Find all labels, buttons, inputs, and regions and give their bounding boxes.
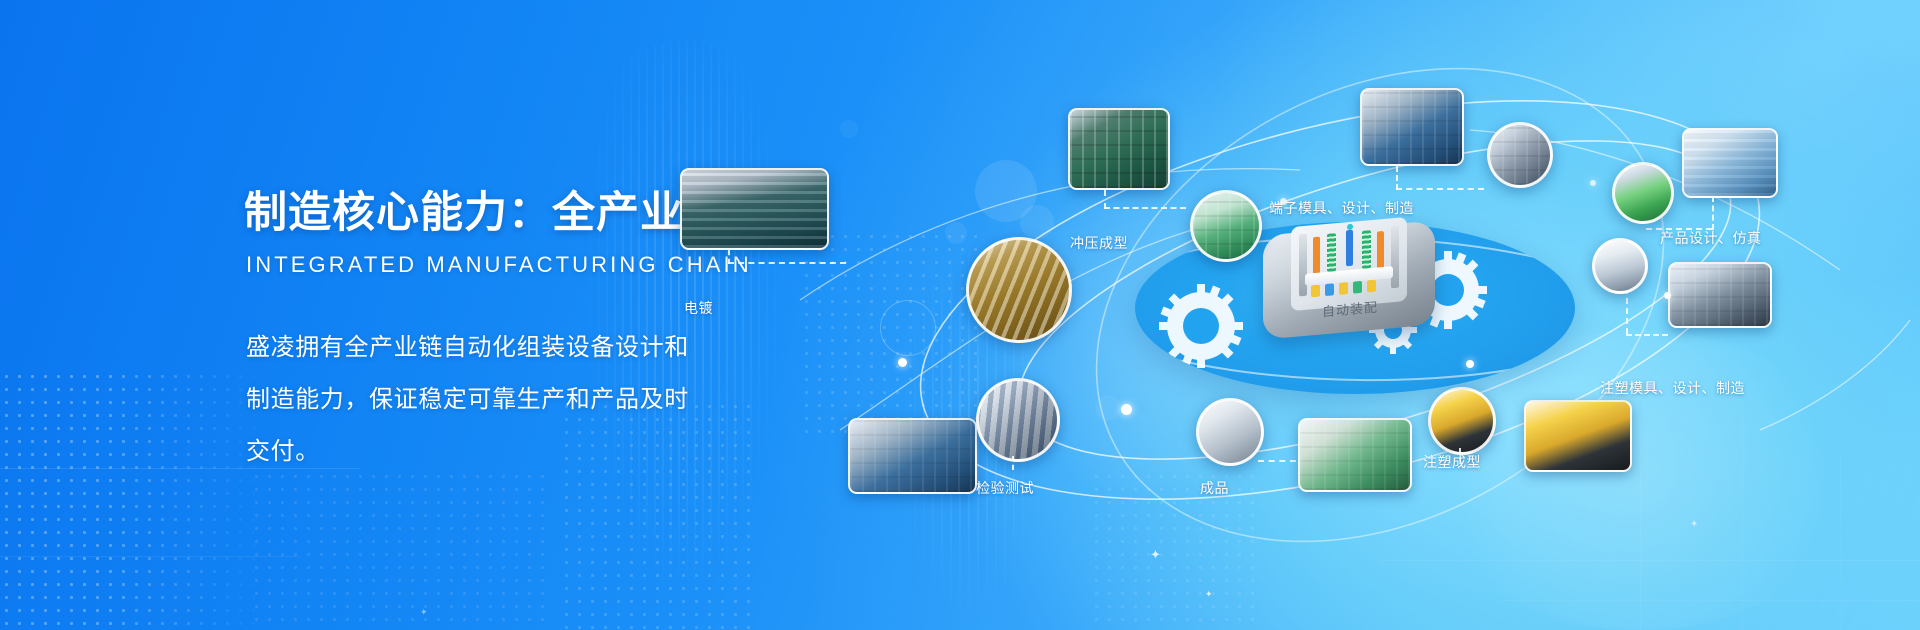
node-label-product-design: 产品设计、仿真 xyxy=(1660,228,1762,248)
process-chain-diagram: 自动装配 电镀 冲压成型 xyxy=(780,0,1920,630)
node-thumb-stamping[interactable] xyxy=(1068,108,1170,190)
grid-line-decor xyxy=(0,556,300,557)
node-thumb-terminal-mold[interactable] xyxy=(1360,88,1464,166)
node-circle-stamping[interactable] xyxy=(1190,190,1262,262)
connector-dash xyxy=(1396,166,1398,190)
node-thumb-inspection-testing[interactable] xyxy=(848,418,977,494)
connector-dash xyxy=(728,262,846,264)
automatic-assembly-machine: 自动装配 xyxy=(1255,200,1445,336)
orbit-dot xyxy=(1280,198,1287,205)
node-circle-finished-product[interactable] xyxy=(1196,398,1264,466)
connector-dash xyxy=(1396,188,1484,190)
connector-dash xyxy=(728,250,730,264)
manufacturing-chain-banner: ✦ ✦ ✦ ✦ 制造核心能力：全产业链 INTEGRATED MANUFACTU… xyxy=(0,0,1920,630)
orbit-dot xyxy=(1590,180,1596,186)
banner-copy: 制造核心能力：全产业链 INTEGRATED MANUFACTURING CHA… xyxy=(244,178,704,478)
connector-dash xyxy=(1626,334,1668,336)
page-title: 制造核心能力：全产业链 xyxy=(244,178,704,240)
node-thumb-injection-molding[interactable] xyxy=(1524,400,1632,472)
node-label-electroplating: 电镀 xyxy=(684,298,713,318)
orbit-dot xyxy=(1121,404,1132,415)
orbit-dot xyxy=(1466,360,1474,368)
connector-dash xyxy=(1012,456,1014,470)
node-circle-electroplating[interactable] xyxy=(966,237,1072,343)
node-thumb-injection-mold[interactable] xyxy=(1668,262,1772,328)
orbit-dot xyxy=(1664,292,1671,299)
connector-dash xyxy=(1626,288,1628,334)
orbit-dot xyxy=(898,358,907,367)
dot-grid-decor-left xyxy=(0,370,270,630)
node-label-finished-product: 成品 xyxy=(1200,478,1229,498)
node-circle-injection-molding[interactable] xyxy=(1428,387,1496,455)
node-label-injection-mold: 注塑模具、设计、制造 xyxy=(1600,378,1745,398)
node-thumb-product-design[interactable] xyxy=(1682,128,1778,198)
node-label-terminal-mold: 端子模具、设计、制造 xyxy=(1269,198,1414,218)
connector-dash xyxy=(1104,207,1186,209)
node-circle-product-design[interactable] xyxy=(1612,162,1674,224)
node-circle-inspection-testing[interactable] xyxy=(976,378,1060,462)
node-thumb-electroplating[interactable] xyxy=(680,168,829,250)
connector-dash xyxy=(1712,196,1714,230)
page-subtitle: INTEGRATED MANUFACTURING CHAIN xyxy=(246,252,704,278)
connector-dash xyxy=(1104,190,1106,209)
node-label-inspection-testing: 检验测试 xyxy=(976,478,1034,498)
dot-grid-decor-lower xyxy=(250,470,550,630)
node-circle-injection-mold[interactable] xyxy=(1592,238,1648,294)
node-label-injection-molding: 注塑成型 xyxy=(1423,452,1481,472)
banner-description: 盛凌拥有全产业链自动化组装设备设计和制造能力，保证稳定可靠生产和产品及时交付。 xyxy=(246,322,704,478)
node-thumb-finished-product[interactable] xyxy=(1298,418,1412,492)
node-circle-terminal-mold[interactable] xyxy=(1487,122,1553,188)
node-label-stamping: 冲压成型 xyxy=(1070,233,1128,253)
connector-dash xyxy=(1258,460,1296,462)
